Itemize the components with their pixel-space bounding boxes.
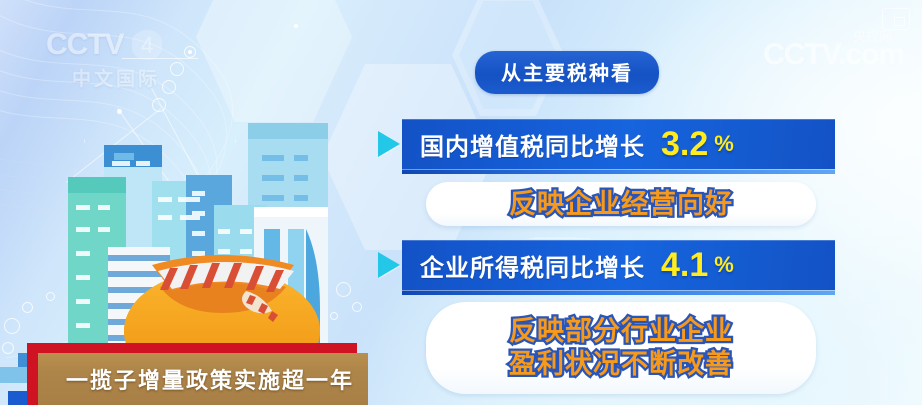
channel-number: 4 bbox=[132, 30, 162, 60]
section-badge: 从主要税种看 bbox=[475, 51, 659, 94]
section-badge-label: 从主要税种看 bbox=[501, 63, 633, 85]
tax-data-row: 国内增值税同比增长 3.2 % bbox=[402, 119, 835, 169]
tax-data-unit: % bbox=[714, 131, 734, 157]
triangle-right-icon bbox=[378, 131, 400, 157]
tax-data-unit: % bbox=[714, 252, 734, 278]
tax-data-label: 企业所得税同比增长 bbox=[420, 248, 645, 283]
cctv-logo-text: CCTV bbox=[46, 28, 124, 61]
statistics-panel: 从主要税种看 国内增值税同比增长 3.2 % 反映企业经营向好 企业所得税同比增… bbox=[372, 0, 922, 405]
broadcast-graphic-frame: CCTV 4 中文国际 央视网 CCTV.com 从主要税种看 国内增值税同比增… bbox=[0, 0, 922, 405]
network-dot bbox=[188, 50, 192, 54]
insight-capsule: 反映部分行业企业 盈利状况不断改善 bbox=[426, 302, 816, 394]
lower-third-banner: 一揽子增量政策实施超一年 bbox=[38, 353, 368, 405]
tax-data-value: 4.1 bbox=[661, 248, 708, 282]
triangle-right-icon bbox=[378, 252, 400, 278]
cctv-channel-logo: CCTV 4 中文国际 bbox=[46, 30, 186, 92]
insight-capsule: 反映企业经营向好 bbox=[426, 182, 816, 226]
tax-data-row: 企业所得税同比增长 4.1 % bbox=[402, 240, 835, 290]
insight-text-line2: 盈利状况不断改善 bbox=[509, 350, 733, 379]
insight-text-line1: 反映部分行业企业 bbox=[509, 317, 733, 346]
tax-data-label: 国内增值税同比增长 bbox=[420, 127, 645, 162]
tax-data-value: 3.2 bbox=[661, 127, 708, 161]
insight-text: 反映企业经营向好 bbox=[509, 190, 733, 219]
channel-name: 中文国际 bbox=[46, 64, 186, 91]
lower-third-headline: 一揽子增量政策实施超一年 bbox=[66, 363, 354, 395]
data-row-underline bbox=[402, 290, 835, 295]
network-dot bbox=[294, 24, 298, 28]
hexagon-shape bbox=[196, 0, 352, 122]
data-row-underline bbox=[402, 169, 835, 174]
